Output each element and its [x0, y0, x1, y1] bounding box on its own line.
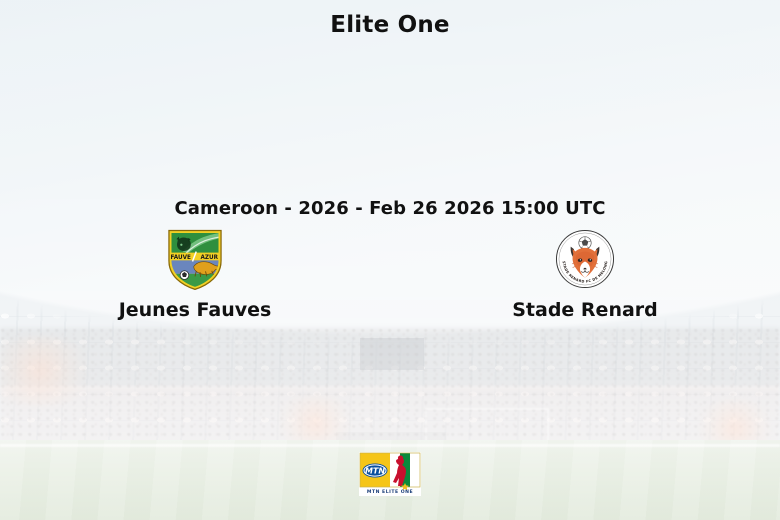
- match-info-line: Cameroon - 2026 - Feb 26 2026 15:00 UTC: [0, 198, 780, 219]
- away-team-name: Stade Renard: [512, 300, 658, 321]
- shield-crest-fauve-azur-icon: FAUVE AZUR: [164, 228, 226, 290]
- circle-crest-fox-icon: STADE RENARD FC DE MELONG: [554, 228, 616, 290]
- mtn-wordmark: MTN: [365, 467, 385, 476]
- away-team[interactable]: STADE RENARD FC DE MELONG Stade Renard: [390, 228, 780, 321]
- card-content: Elite One Cameroon - 2026 - Feb 26 2026 …: [0, 0, 780, 520]
- page-title: Elite One: [0, 12, 780, 38]
- home-team[interactable]: FAUVE AZUR Jeunes Fauves: [0, 228, 390, 321]
- sponsor-caption: MTN ELITE ONE: [367, 489, 413, 495]
- crest-text-right: AZUR: [200, 255, 218, 261]
- home-team-name: Jeunes Fauves: [119, 300, 272, 321]
- crest-text-left: FAUVE: [171, 255, 191, 261]
- teams-row: FAUVE AZUR Jeunes Fauves: [0, 228, 780, 321]
- match-preview-card: Elite One Cameroon - 2026 - Feb 26 2026 …: [0, 0, 780, 520]
- mtn-elite-one-logo-icon[interactable]: MTN MTN ELITE ONE: [359, 452, 421, 496]
